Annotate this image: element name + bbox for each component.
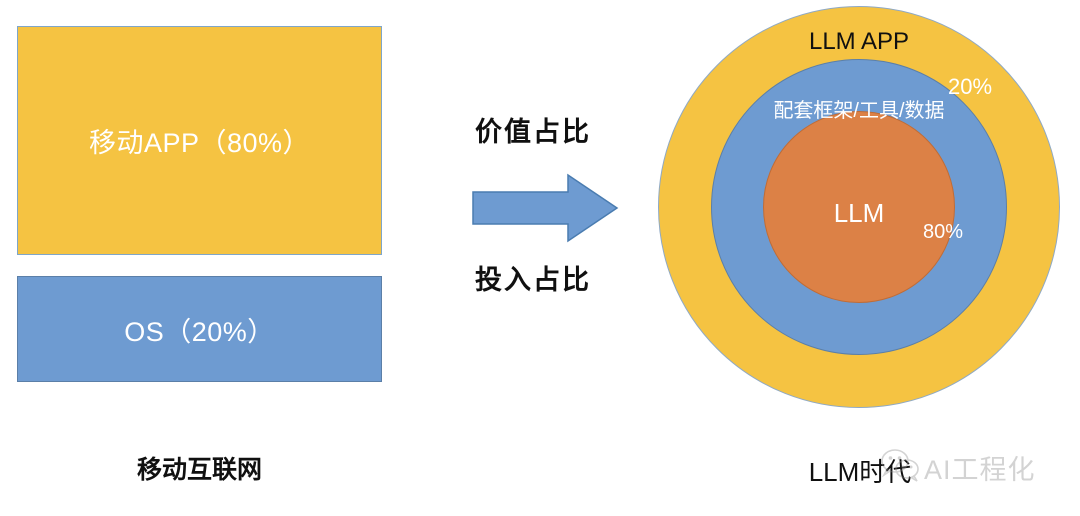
mobile-app-box: 移动APP（80%）: [17, 26, 382, 255]
llm-app-ring-label: LLM APP: [658, 28, 1060, 56]
framework-ring-label: 配套框架/工具/数据: [711, 94, 1007, 123]
investment-share-label: 投入占比: [418, 258, 648, 297]
os-box: OS（20%）: [17, 276, 382, 382]
arrow-right-icon: [470, 172, 620, 244]
os-box-label: OS（20%）: [124, 310, 275, 349]
mobile-app-box-label: 移动APP（80%）: [89, 121, 310, 160]
value-share-label: 价值占比: [418, 110, 648, 149]
inner-ring-percent: 80%: [923, 221, 963, 244]
left-caption: 移动互联网: [17, 450, 382, 486]
diagram-canvas: 移动APP（80%） OS（20%） 移动互联网 价值占比 投入占比 LLM A…: [0, 0, 1080, 516]
concentric-rings: LLM APP 20% 配套框架/工具/数据 LLM 80%: [658, 6, 1060, 408]
right-caption: LLM时代: [700, 452, 1020, 489]
